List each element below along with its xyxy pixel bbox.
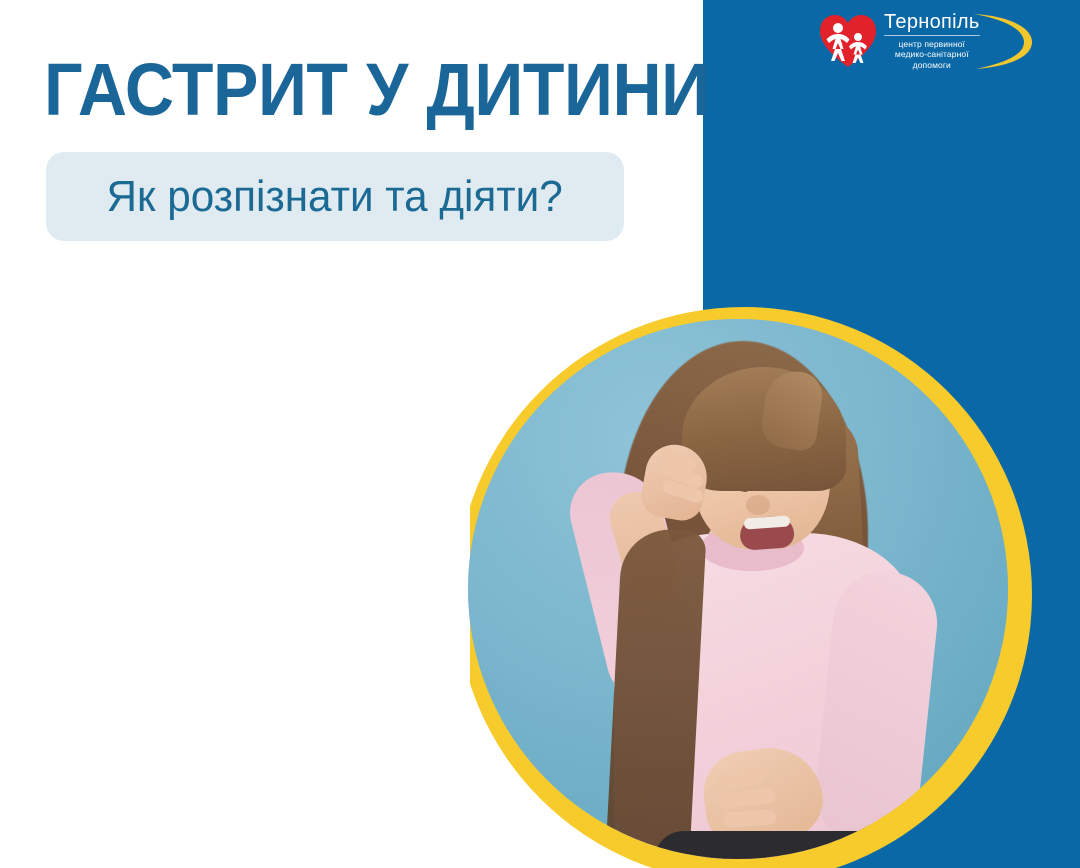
logo-divider [884,35,980,36]
photo-circle [468,319,1008,859]
girl-photo [468,319,1008,859]
nose [746,495,770,515]
subtitle-text: Як розпізнати та діяти? [107,172,563,222]
logo-text-block: Тернопіль центр первинної медико-санітар… [884,12,980,71]
logo-subtitle-line-1: центр первинної [884,39,980,50]
logo: Тернопіль центр первинної медико-санітар… [818,8,1026,74]
white-background-bottom [0,848,470,868]
poster-canvas: ГАСТРИТ У ДИТИНИ Як розпізнати та діяти? [0,0,1080,868]
logo-subtitle-line-2: медико-санітарної [884,49,980,60]
hair-strand-left [605,527,706,859]
heart-with-two-children-icon [818,13,878,69]
logo-subtitle-line-3: допомоги [884,60,980,71]
dark-skirt [654,831,904,859]
page-title: ГАСТРИТ У ДИТИНИ [44,49,651,131]
subtitle-pill: Як розпізнати та діяти? [46,152,624,241]
white-background-left [0,300,470,868]
logo-city-name: Тернопіль [884,12,980,32]
logo-subtitle-block: центр первинної медико-санітарної допомо… [884,39,980,71]
